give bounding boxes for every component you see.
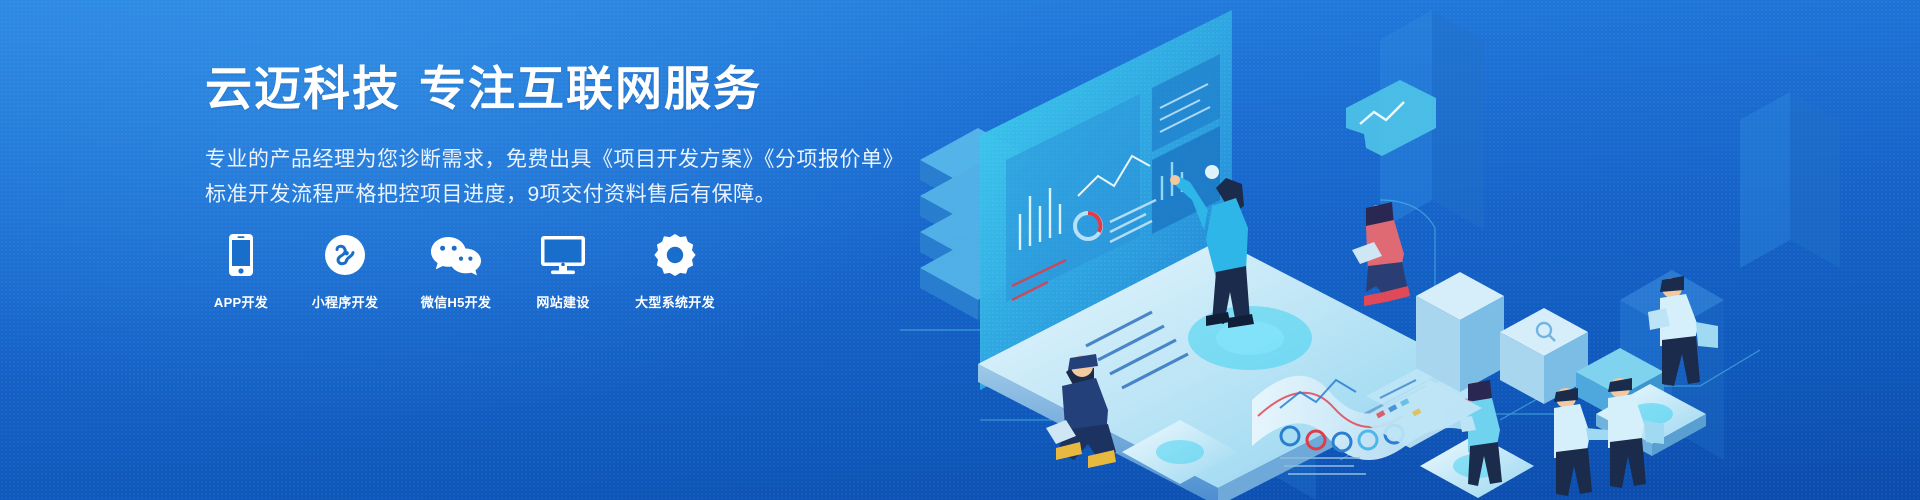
promo-banner: 云迈科技专注互联网服务 专业的产品经理为您诊断需求，免费出具《项目开发方案》《分… [0,0,1920,500]
headline-tagline: 专注互联网服务 [419,62,762,115]
service-label: APP开发 [214,292,268,311]
gear-icon [653,232,697,278]
service-list: APP开发 小程序开发 [205,232,723,311]
service-item-app[interactable]: APP开发 [205,232,277,311]
wechat-icon [430,232,482,278]
subtitle-line-2: 标准开发流程严格把控项目进度，9项交付资料售后有保障。 [205,177,905,212]
subtitle-block: 专业的产品经理为您诊断需求，免费出具《项目开发方案》《分项报价单》 标准开发流程… [205,142,905,212]
subtitle-line-1: 专业的产品经理为您诊断需求，免费出具《项目开发方案》《分项报价单》 [205,142,905,177]
mobile-phone-icon [228,232,254,278]
mini-program-icon [324,232,366,278]
hero-illustration [860,0,1920,500]
service-label: 网站建设 [536,292,589,311]
service-label: 大型系统开发 [635,292,715,311]
page-title: 云迈科技专注互联网服务 [205,62,905,116]
service-item-wechat-h5[interactable]: 微信H5开发 [413,232,499,311]
banner-content: 云迈科技专注互联网服务 专业的产品经理为您诊断需求，免费出具《项目开发方案》《分… [205,62,905,212]
service-item-large-system[interactable]: 大型系统开发 [627,232,723,311]
monitor-icon [540,232,586,278]
service-label: 微信H5开发 [421,292,491,311]
headline-brand: 云迈科技 [205,62,401,115]
service-item-mini-program[interactable]: 小程序开发 [305,232,385,311]
service-label: 小程序开发 [312,292,379,311]
service-item-website[interactable]: 网站建设 [527,232,599,311]
